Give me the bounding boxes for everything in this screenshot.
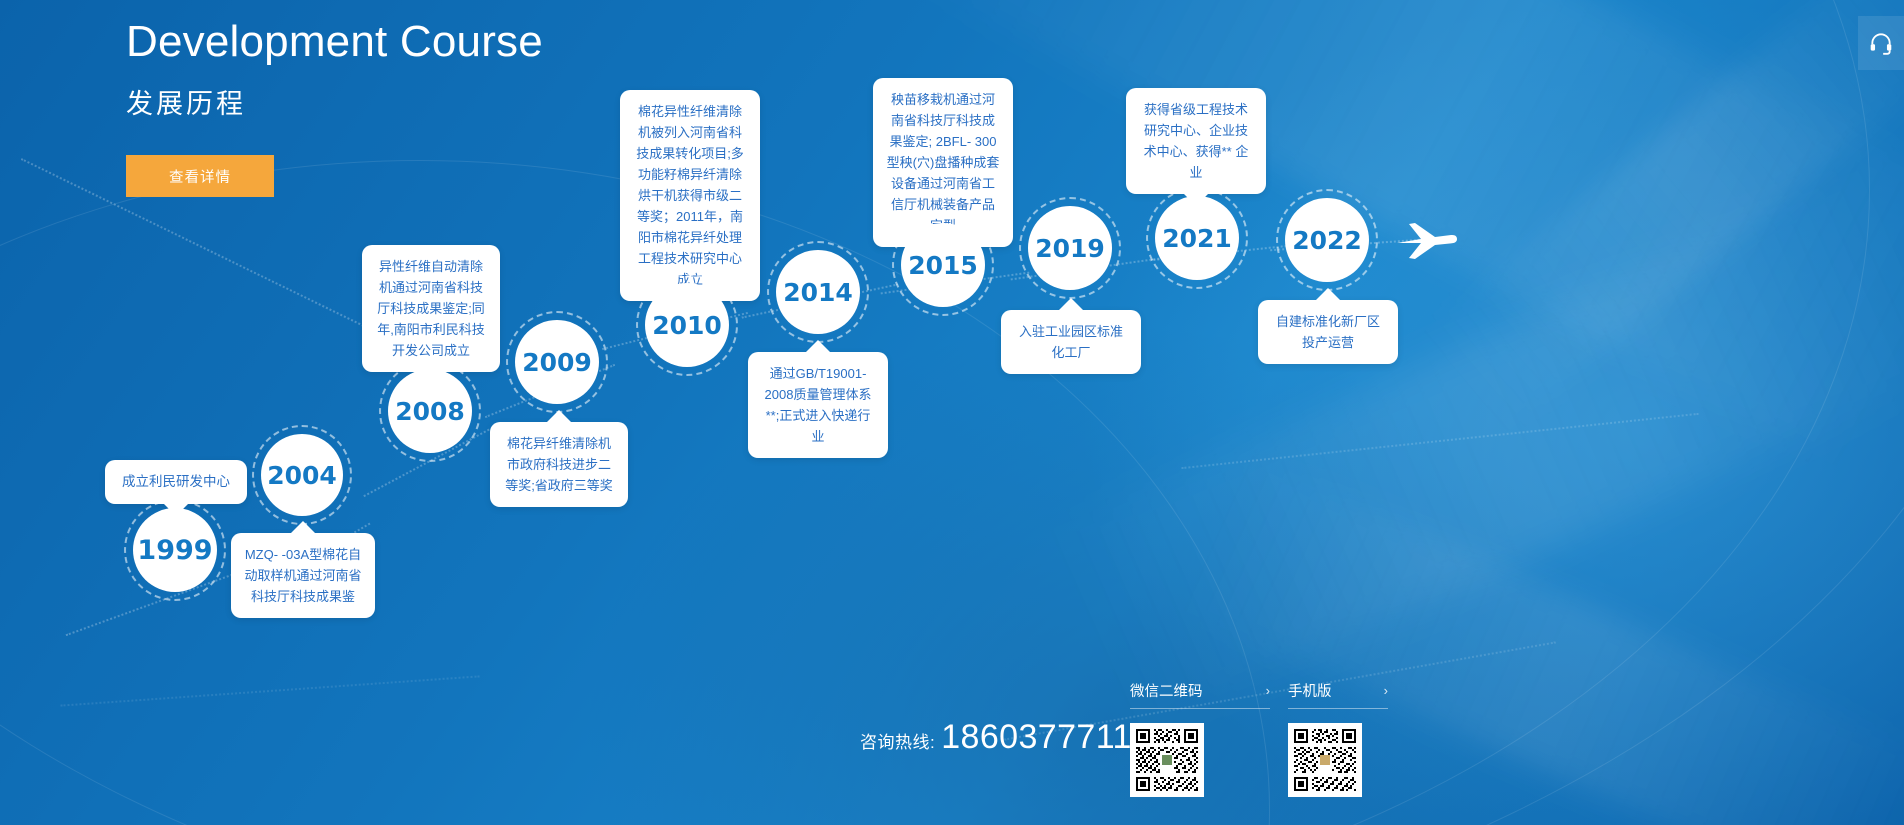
timeline-year-label: 2004: [267, 461, 337, 490]
light-ray-decoration: [1421, 0, 1904, 434]
timeline-bubble-text: 秧苗移栽机通过河南省科技厅科技成果鉴定; 2BFL- 300型秧(穴)盘播种成套…: [887, 92, 1000, 233]
timeline-year-2009[interactable]: 2009: [515, 320, 599, 404]
timeline-year-2008[interactable]: 2008: [388, 369, 472, 453]
timeline-page: Development Course 发展历程 查看详情 成立利民研发中心 19…: [0, 0, 1904, 825]
timeline-bubble-text: 棉花异性纤维清除机被列入河南省科技成果转化项目;多功能籽棉异纤清除烘干机获得市级…: [636, 104, 744, 287]
qr-label: 微信二维码: [1130, 680, 1203, 701]
headset-icon: [1868, 30, 1894, 56]
qr-pattern: [1292, 727, 1358, 793]
timeline-year-label: 2010: [652, 311, 722, 340]
timeline-bubble-text: 自建标准化新厂区投产运营: [1276, 314, 1380, 350]
timeline-bubble-1999[interactable]: 成立利民研发中心: [105, 460, 247, 504]
timeline-year-label: 2019: [1035, 234, 1105, 263]
timeline-year-1999[interactable]: 1999: [133, 508, 217, 592]
airplane-marker: [1395, 218, 1459, 264]
view-details-button[interactable]: 查看详情: [126, 155, 274, 197]
timeline-bubble-2019[interactable]: 入驻工业园区标准化工厂: [1001, 310, 1141, 374]
timeline-year-2010[interactable]: 2010: [645, 283, 729, 367]
timeline-year-2004[interactable]: 2004: [261, 434, 343, 516]
timeline-year-label: 2022: [1292, 226, 1362, 255]
timeline-bubble-text: 成立利民研发中心: [122, 474, 230, 489]
timeline-bubble-2022[interactable]: 自建标准化新厂区投产运营: [1258, 300, 1398, 364]
timeline-bubble-text: 棉花异纤维清除机市政府科技进步二等奖;省政府三等奖: [505, 436, 613, 493]
page-title-chinese: 发展历程: [126, 82, 543, 121]
timeline-bubble-text: MZQ- -03A型棉花自动取样机通过河南省科技厅科技成果鉴: [244, 547, 361, 604]
page-title-english: Development Course: [126, 16, 543, 68]
bubble-tail: [290, 521, 316, 534]
timeline-year-2014[interactable]: 2014: [776, 250, 860, 334]
customer-service-button[interactable]: [1858, 16, 1904, 70]
timeline-bubble-2014[interactable]: 通过GB/T19001-2008质量管理体系**;正式进入快递行业: [748, 352, 888, 458]
qr-mobile-link[interactable]: 手机版 ›: [1288, 680, 1388, 709]
qr-code-image-mobile: [1288, 723, 1362, 797]
bubble-tail: [805, 340, 831, 353]
timeline-year-2021[interactable]: 2021: [1155, 196, 1239, 280]
hotline-number: 18603777118: [941, 718, 1151, 757]
timeline-year-label: 2014: [783, 278, 853, 307]
timeline-bubble-2021[interactable]: 获得省级工程技术研究中心、企业技术中心、获得** 企业: [1126, 88, 1266, 194]
timeline-year-label: 2021: [1162, 224, 1232, 253]
timeline-year-2019[interactable]: 2019: [1028, 206, 1112, 290]
timeline-year-label: 2015: [908, 251, 978, 280]
qr-wechat-link[interactable]: 微信二维码 ›: [1130, 680, 1270, 709]
timeline-bubble-2004[interactable]: MZQ- -03A型棉花自动取样机通过河南省科技厅科技成果鉴: [231, 533, 375, 618]
timeline-bubble-2010[interactable]: 棉花异性纤维清除机被列入河南省科技成果转化项目;多功能籽棉异纤清除烘干机获得市级…: [620, 90, 760, 301]
bubble-tail: [1058, 298, 1084, 311]
qr-block-mobile: 手机版 ›: [1288, 680, 1388, 797]
bubble-tail: [546, 410, 572, 423]
qr-code-image-wechat: [1130, 723, 1204, 797]
timeline-bubble-text: 通过GB/T19001-2008质量管理体系**;正式进入快递行业: [765, 366, 872, 444]
timeline-year-label: 1999: [137, 535, 212, 566]
timeline-year-label: 2009: [522, 348, 592, 377]
timeline-path-segment: [60, 675, 479, 706]
bubble-tail: [1315, 288, 1341, 301]
timeline-bubble-text: 异性纤维自动清除机通过河南省科技厅科技成果鉴定;同年,南阳市利民科技开发公司成立: [377, 259, 485, 358]
timeline-bubble-text: 获得省级工程技术研究中心、企业技术中心、获得** 企业: [1144, 102, 1249, 180]
timeline-path-segment: [1181, 413, 1698, 469]
timeline-year-label: 2008: [395, 397, 465, 426]
chevron-right-icon: ›: [1384, 683, 1388, 698]
hotline: 咨询热线: 18603777118: [860, 718, 1151, 757]
hotline-label: 咨询热线:: [860, 728, 935, 753]
timeline-bubble-2009[interactable]: 棉花异纤维清除机市政府科技进步二等奖;省政府三等奖: [490, 422, 628, 507]
qr-block-wechat: 微信二维码 ›: [1130, 680, 1270, 797]
timeline-year-2022[interactable]: 2022: [1285, 198, 1369, 282]
airplane-icon: [1395, 218, 1459, 264]
qr-label: 手机版: [1288, 680, 1332, 701]
timeline-bubble-text: 入驻工业园区标准化工厂: [1019, 324, 1123, 360]
qr-pattern: [1134, 727, 1200, 793]
timeline-bubble-2008[interactable]: 异性纤维自动清除机通过河南省科技厅科技成果鉴定;同年,南阳市利民科技开发公司成立: [362, 245, 500, 372]
chevron-right-icon: ›: [1266, 683, 1270, 698]
page-header: Development Course 发展历程: [126, 16, 543, 121]
timeline-year-2015[interactable]: 2015: [901, 223, 985, 307]
